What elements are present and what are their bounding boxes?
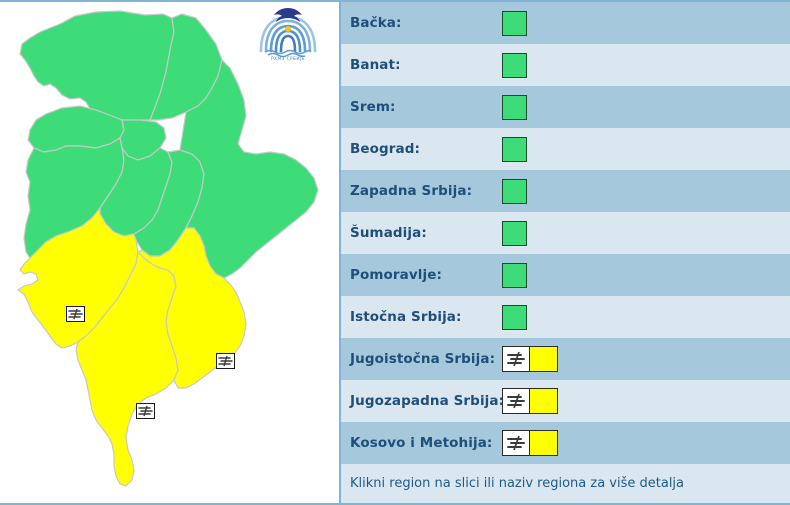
fog-icon-cell — [503, 347, 530, 371]
region-row-istocna-srbija[interactable]: Istočna Srbija: — [341, 296, 790, 338]
footer-hint-text: Klikni region na slici ili naziv regiona… — [350, 476, 684, 491]
fog-icon — [137, 404, 154, 418]
green-warning-square — [502, 221, 527, 246]
map-marker-fog-jugozapadna[interactable] — [66, 306, 85, 322]
region-label-jugozapadna-srbija[interactable]: Jugozapadna Srbija: — [341, 393, 500, 409]
yellow-warning-square — [530, 431, 557, 455]
region-row-jugoistocna-srbija[interactable]: Jugoistočna Srbija: — [341, 338, 790, 380]
rhmz-serbia-logo: РХМЗ СРБИЈЕ — [257, 5, 319, 61]
green-warning-square — [502, 137, 527, 162]
map-panel: РХМЗ СРБИЈЕ — [0, 2, 341, 503]
region-row-kosovo-i-metohija[interactable]: Kosovo i Metohija: — [341, 422, 790, 464]
region-list-panel: Bačka: Banat: Srem: Beograd: — [341, 2, 790, 503]
yellow-warning-pair — [502, 388, 558, 414]
footer-hint: Klikni region na slici ili naziv regiona… — [341, 464, 790, 503]
region-row-beograd[interactable]: Beograd: — [341, 128, 790, 170]
region-badge-kosovo-i-metohija — [502, 430, 558, 456]
fog-icon-cell — [503, 389, 530, 413]
map-marker-fog-kosovo[interactable] — [136, 403, 155, 419]
region-label-srem[interactable]: Srem: — [341, 99, 500, 115]
region-label-pomoravlje[interactable]: Pomoravlje: — [341, 267, 500, 283]
region-badge-banat — [502, 52, 527, 78]
region-label-beograd[interactable]: Beograd: — [341, 141, 500, 157]
green-warning-square — [502, 179, 527, 204]
region-label-backa[interactable]: Bačka: — [341, 15, 500, 31]
region-row-zapadna-srbija[interactable]: Zapadna Srbija: — [341, 170, 790, 212]
green-warning-square — [502, 53, 527, 78]
fog-icon — [505, 434, 527, 452]
map-region-backa[interactable] — [20, 11, 174, 120]
fog-icon — [217, 354, 234, 368]
region-badge-jugozapadna-srbija — [502, 388, 558, 414]
green-warning-square — [502, 11, 527, 36]
yellow-warning-pair — [502, 430, 558, 456]
region-row-backa[interactable]: Bačka: — [341, 2, 790, 44]
region-row-jugozapadna-srbija[interactable]: Jugozapadna Srbija: — [341, 380, 790, 422]
region-badge-srem — [502, 94, 527, 120]
region-badge-jugoistocna-srbija — [502, 346, 558, 372]
region-row-pomoravlje[interactable]: Pomoravlje: — [341, 254, 790, 296]
region-row-srem[interactable]: Srem: — [341, 86, 790, 128]
yellow-warning-square — [530, 347, 557, 371]
map-marker-fog-jugoistocna[interactable] — [216, 353, 235, 369]
region-badge-sumadija — [502, 220, 527, 246]
fog-icon — [505, 350, 527, 368]
green-warning-square — [502, 95, 527, 120]
green-warning-square — [502, 263, 527, 288]
yellow-warning-pair — [502, 346, 558, 372]
fog-icon-cell — [503, 431, 530, 455]
region-badge-istocna-srbija — [502, 304, 527, 330]
region-label-zapadna-srbija[interactable]: Zapadna Srbija: — [341, 183, 500, 199]
region-row-banat[interactable]: Banat: — [341, 44, 790, 86]
region-badge-beograd — [502, 136, 527, 162]
logo-caption: РХМЗ СРБИЈЕ — [271, 56, 305, 61]
region-label-sumadija[interactable]: Šumadija: — [341, 225, 500, 241]
region-label-kosovo-i-metohija[interactable]: Kosovo i Metohija: — [341, 435, 500, 451]
region-label-banat[interactable]: Banat: — [341, 57, 500, 73]
serbia-map[interactable] — [0, 2, 339, 503]
region-badge-pomoravlje — [502, 262, 527, 288]
region-row-sumadija[interactable]: Šumadija: — [341, 212, 790, 254]
region-badge-backa — [502, 10, 527, 36]
warning-map-page: РХМЗ СРБИЈЕ — [0, 0, 790, 505]
region-label-istocna-srbija[interactable]: Istočna Srbija: — [341, 309, 500, 325]
green-warning-square — [502, 305, 527, 330]
region-label-jugoistocna-srbija[interactable]: Jugoistočna Srbija: — [341, 351, 500, 367]
yellow-warning-square — [530, 389, 557, 413]
fog-icon — [505, 392, 527, 410]
region-badge-zapadna-srbija — [502, 178, 527, 204]
fog-icon — [67, 307, 84, 321]
